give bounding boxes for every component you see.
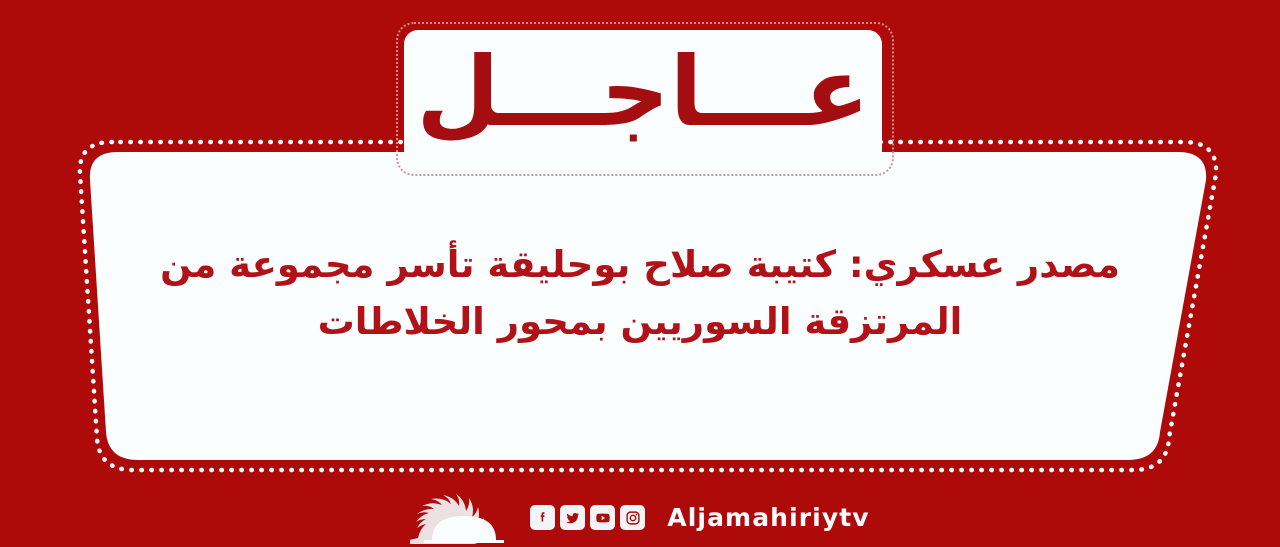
brand-name: Aljamahiriytv bbox=[667, 503, 869, 532]
twitter-icon[interactable] bbox=[560, 505, 585, 530]
headline: مصدر عسكري: كتيبة صلاح بوحليقة تأسر مجمو… bbox=[130, 236, 1150, 351]
social-links bbox=[530, 505, 645, 530]
instagram-icon[interactable] bbox=[620, 505, 645, 530]
facebook-icon[interactable] bbox=[530, 505, 555, 530]
breaking-badge-label: عـــاجـــل bbox=[404, 30, 882, 154]
breaking-news-banner: عـــاجـــل مصدر عسكري: كتيبة صلاح بوحليق… bbox=[0, 0, 1280, 547]
headline-line-2: المرتزقة السوريين بمحور الخلاطات bbox=[130, 293, 1150, 350]
footer-bar: Aljamahiriytv bbox=[0, 488, 1280, 547]
headline-line-1: مصدر عسكري: كتيبة صلاح بوحليقة تأسر مجمو… bbox=[130, 236, 1150, 293]
aljamahiriya-dome-logo bbox=[410, 492, 518, 544]
youtube-icon[interactable] bbox=[590, 505, 615, 530]
